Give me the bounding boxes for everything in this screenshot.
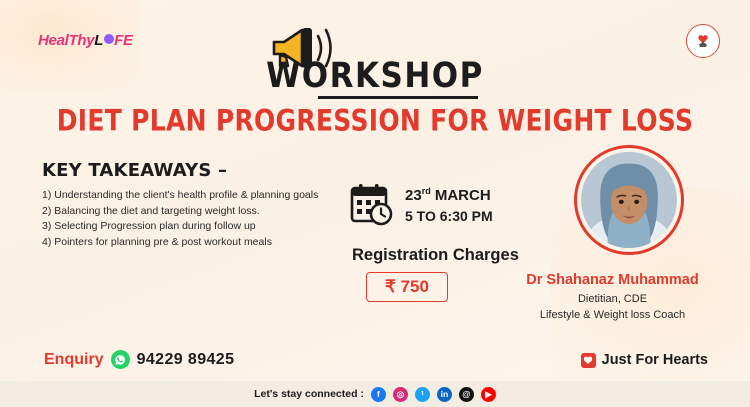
event-date: 23rd MARCH bbox=[405, 186, 493, 204]
poster-canvas: HealThyLFE WORKSHOP DIET PLAN PROGRESSIO… bbox=[0, 0, 750, 407]
footer-bar: Let's stay connected : f ◎ ᵗ in @ ▶ bbox=[0, 381, 750, 407]
logo-dot-icon bbox=[104, 34, 114, 44]
youtube-icon[interactable]: ▶ bbox=[481, 387, 496, 402]
linkedin-icon[interactable]: in bbox=[437, 387, 452, 402]
facebook-icon[interactable]: f bbox=[371, 387, 386, 402]
footer-text: Let's stay connected : bbox=[254, 388, 364, 400]
event-date-month: MARCH bbox=[435, 187, 491, 204]
speaker-role-secondary: Lifestyle & Weight loss Coach bbox=[505, 309, 720, 321]
organizer-logo: Just For Hearts bbox=[581, 352, 708, 368]
speaker-avatar-ring bbox=[574, 145, 684, 255]
registration-charges-label: Registration Charges bbox=[352, 246, 519, 265]
page-title: DIET PLAN PROGRESSION FOR WEIGHT LOSS bbox=[0, 103, 750, 137]
organizer-name: Just For Hearts bbox=[602, 352, 708, 368]
logo-text-part3: FE bbox=[114, 32, 133, 49]
list-item: 4) Pointers for planning pre & post work… bbox=[42, 235, 318, 251]
list-item: 2) Balancing the diet and targeting weig… bbox=[42, 204, 318, 220]
heart-figure-icon bbox=[693, 31, 713, 51]
event-time: 5 TO 6:30 PM bbox=[405, 208, 493, 224]
workshop-underline bbox=[318, 96, 478, 99]
heart-icon bbox=[581, 353, 596, 368]
event-date-suffix: rd bbox=[422, 186, 431, 196]
logo-text-part2: L bbox=[94, 32, 103, 49]
key-takeaways-list: 1) Understanding the client's health pro… bbox=[42, 188, 318, 250]
whatsapp-icon[interactable] bbox=[111, 350, 130, 369]
price-badge: ₹ 750 bbox=[366, 272, 448, 302]
logo-text-part1: HealThy bbox=[38, 32, 94, 49]
avatar bbox=[581, 152, 677, 248]
workshop-label: WORKSHOP bbox=[0, 56, 750, 96]
twitter-icon[interactable]: ᵗ bbox=[415, 387, 430, 402]
enquiry-phone[interactable]: 94229 89425 bbox=[137, 351, 235, 369]
event-date-day: 23 bbox=[405, 187, 422, 204]
partner-badge-icon bbox=[686, 24, 720, 58]
threads-icon[interactable]: @ bbox=[459, 387, 474, 402]
speaker-name: Dr Shahanaz Muhammad bbox=[505, 272, 720, 288]
instagram-icon[interactable]: ◎ bbox=[393, 387, 408, 402]
brand-logo: HealThyLFE bbox=[38, 32, 133, 49]
calendar-clock-icon bbox=[350, 183, 394, 232]
enquiry-label: Enquiry bbox=[44, 351, 104, 369]
speaker-role: Dietitian, CDE bbox=[505, 293, 720, 305]
event-date-time: 23rd MARCH 5 TO 6:30 PM bbox=[405, 186, 493, 224]
key-takeaways-heading: KEY TAKEAWAYS – bbox=[42, 160, 227, 181]
list-item: 1) Understanding the client's health pro… bbox=[42, 188, 318, 204]
list-item: 3) Selecting Progression plan during fol… bbox=[42, 219, 318, 235]
enquiry-block: Enquiry 94229 89425 bbox=[44, 350, 234, 369]
